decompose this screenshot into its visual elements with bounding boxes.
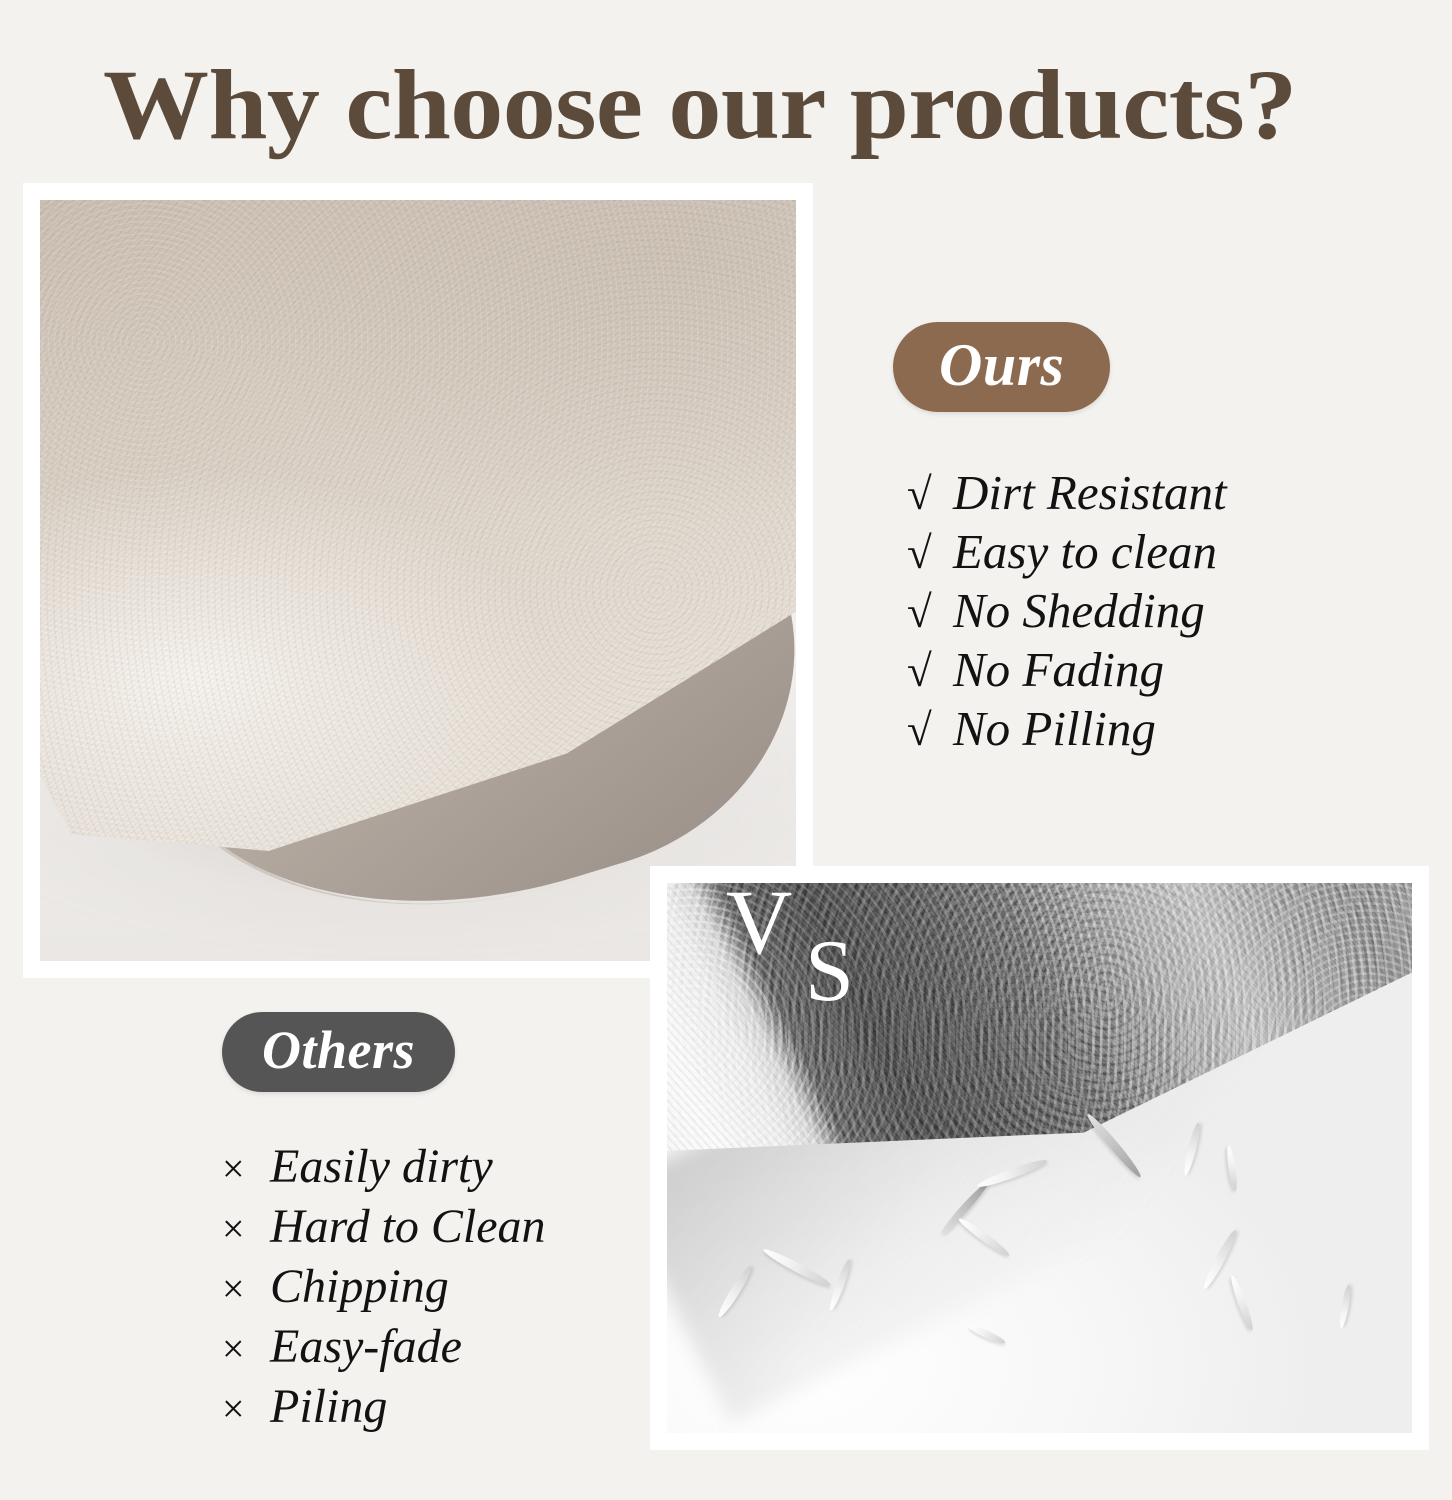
ours-photo-inner: [40, 200, 796, 961]
cross-icon: ×: [222, 1380, 270, 1438]
others-feature-list: × Easily dirty × Hard to Clean × Chippin…: [222, 1138, 692, 1438]
ours-panel: Ours √ Dirt Resistant √ Easy to clean √ …: [893, 322, 1363, 759]
vs-letter-s: S: [805, 928, 854, 1016]
vs-letter-v: V: [726, 876, 792, 968]
check-icon: √: [907, 466, 953, 523]
check-icon: √: [907, 643, 953, 700]
page-title: Why choose our products?: [103, 52, 1452, 157]
others-feature-item: × Hard to Clean: [222, 1198, 692, 1258]
infographic-page: Why choose our products?: [0, 0, 1452, 1500]
mat-scene: [40, 200, 796, 961]
ours-feature-list: √ Dirt Resistant √ Easy to clean √ No Sh…: [907, 464, 1363, 759]
others-feature-label: Hard to Clean: [270, 1198, 546, 1256]
ours-feature-label: No Fading: [953, 641, 1164, 698]
cross-icon: ×: [222, 1320, 270, 1378]
ours-product-photo: [23, 183, 813, 978]
ours-feature-item: √ No Pilling: [907, 700, 1363, 759]
ours-badge: Ours: [893, 322, 1110, 412]
cross-icon: ×: [222, 1200, 270, 1258]
others-feature-label: Easy-fade: [270, 1318, 462, 1376]
check-icon: √: [907, 702, 953, 759]
ours-feature-label: No Shedding: [953, 582, 1205, 639]
others-panel: Others × Easily dirty × Hard to Clean × …: [222, 1012, 692, 1438]
ours-feature-item: √ Dirt Resistant: [907, 464, 1363, 523]
cross-icon: ×: [222, 1140, 270, 1198]
others-feature-item: × Easy-fade: [222, 1318, 692, 1378]
others-badge: Others: [222, 1012, 455, 1092]
ours-feature-item: √ Easy to clean: [907, 523, 1363, 582]
ours-feature-label: Dirt Resistant: [953, 464, 1227, 521]
cross-icon: ×: [222, 1260, 270, 1318]
others-feature-item: × Easily dirty: [222, 1138, 692, 1198]
check-icon: √: [907, 584, 953, 641]
others-feature-item: × Chipping: [222, 1258, 692, 1318]
ours-feature-item: √ No Fading: [907, 641, 1363, 700]
others-feature-label: Easily dirty: [270, 1138, 493, 1196]
ours-feature-label: No Pilling: [953, 700, 1156, 757]
others-feature-item: × Piling: [222, 1378, 692, 1438]
others-feature-label: Piling: [270, 1378, 387, 1436]
ours-feature-item: √ No Shedding: [907, 582, 1363, 641]
ours-feature-label: Easy to clean: [953, 523, 1217, 580]
others-feature-label: Chipping: [270, 1258, 449, 1316]
check-icon: √: [907, 525, 953, 582]
